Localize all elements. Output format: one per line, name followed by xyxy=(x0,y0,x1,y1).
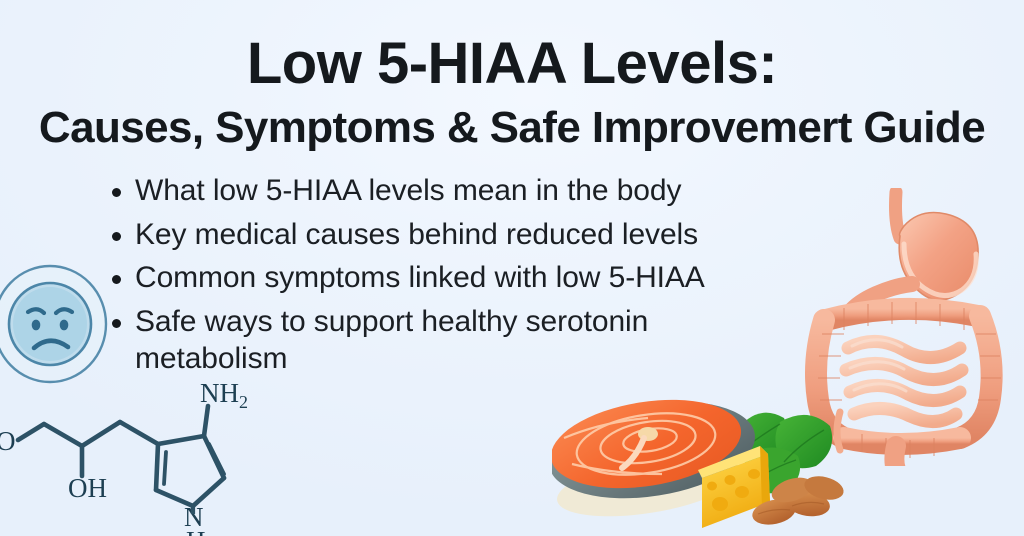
chem-label-OH: OH xyxy=(68,473,107,503)
list-item-label: What low 5-HIAA levels mean in the body xyxy=(135,172,681,210)
bullet-dot-icon xyxy=(112,232,121,241)
sad-face-icon xyxy=(0,262,118,388)
page-title: Low 5-HIAA Levels: xyxy=(0,34,1024,95)
bullet-dot-icon xyxy=(112,319,121,328)
bullet-dot-icon xyxy=(112,188,121,197)
chem-label-O: O xyxy=(0,426,16,456)
chem-label-H: H xyxy=(186,526,206,536)
list-item: Key medical causes behind reduced levels xyxy=(112,216,852,254)
bullet-dot-icon xyxy=(112,275,121,284)
serotonin-rich-foods-illustration xyxy=(552,382,852,536)
list-item-label: Safe ways to support healthy serotonin m… xyxy=(135,303,755,378)
serotonin-skeletal-structure: O OH NH2 N H xyxy=(0,378,296,536)
bullet-list: What low 5-HIAA levels mean in the body … xyxy=(112,172,852,384)
list-item-label: Common symptoms linked with low 5-HIAA xyxy=(135,259,705,297)
list-item-label: Key medical causes behind reduced levels xyxy=(135,216,698,254)
page-subtitle: Causes, Symptoms & Safe Improvemert Guid… xyxy=(0,104,1024,152)
list-item: What low 5-HIAA levels mean in the body xyxy=(112,172,852,210)
list-item: Safe ways to support healthy serotonin m… xyxy=(112,303,852,378)
infographic-canvas: Low 5-HIAA Levels: Causes, Symptoms & Sa… xyxy=(0,0,1024,536)
list-item: Common symptoms linked with low 5-HIAA xyxy=(112,259,852,297)
